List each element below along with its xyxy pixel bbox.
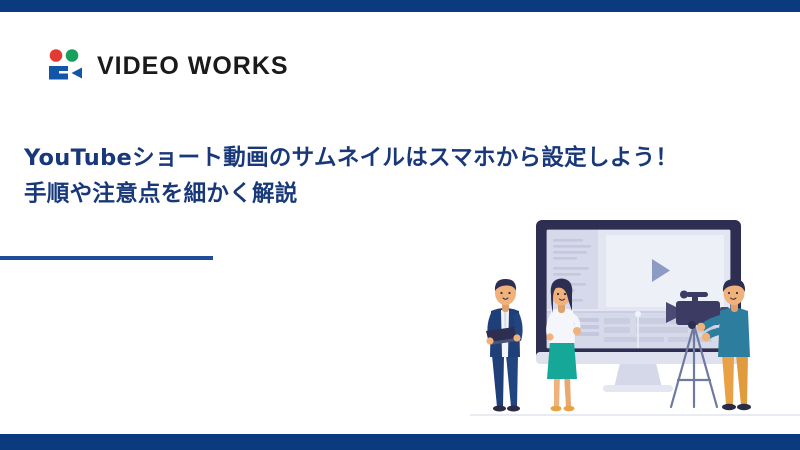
top-accent-bar xyxy=(0,0,800,12)
bottom-accent-bar xyxy=(0,434,800,450)
video-production-team-illustration xyxy=(470,215,800,435)
page-title: YouTubeショート動画のサムネイルはスマホから設定しよう！ 手順や注意点を細… xyxy=(24,140,776,213)
brand-logo-text: VIDEO WORKS xyxy=(97,54,289,79)
brand-logo[interactable]: VIDEO WORKS xyxy=(46,48,289,84)
video-works-logo-mark-icon xyxy=(46,48,84,84)
title-underline-rule xyxy=(0,256,213,260)
person-with-laptop xyxy=(486,279,523,412)
page-root: VIDEO WORKS YouTubeショート動画のサムネイルはスマホから設定し… xyxy=(0,0,800,450)
